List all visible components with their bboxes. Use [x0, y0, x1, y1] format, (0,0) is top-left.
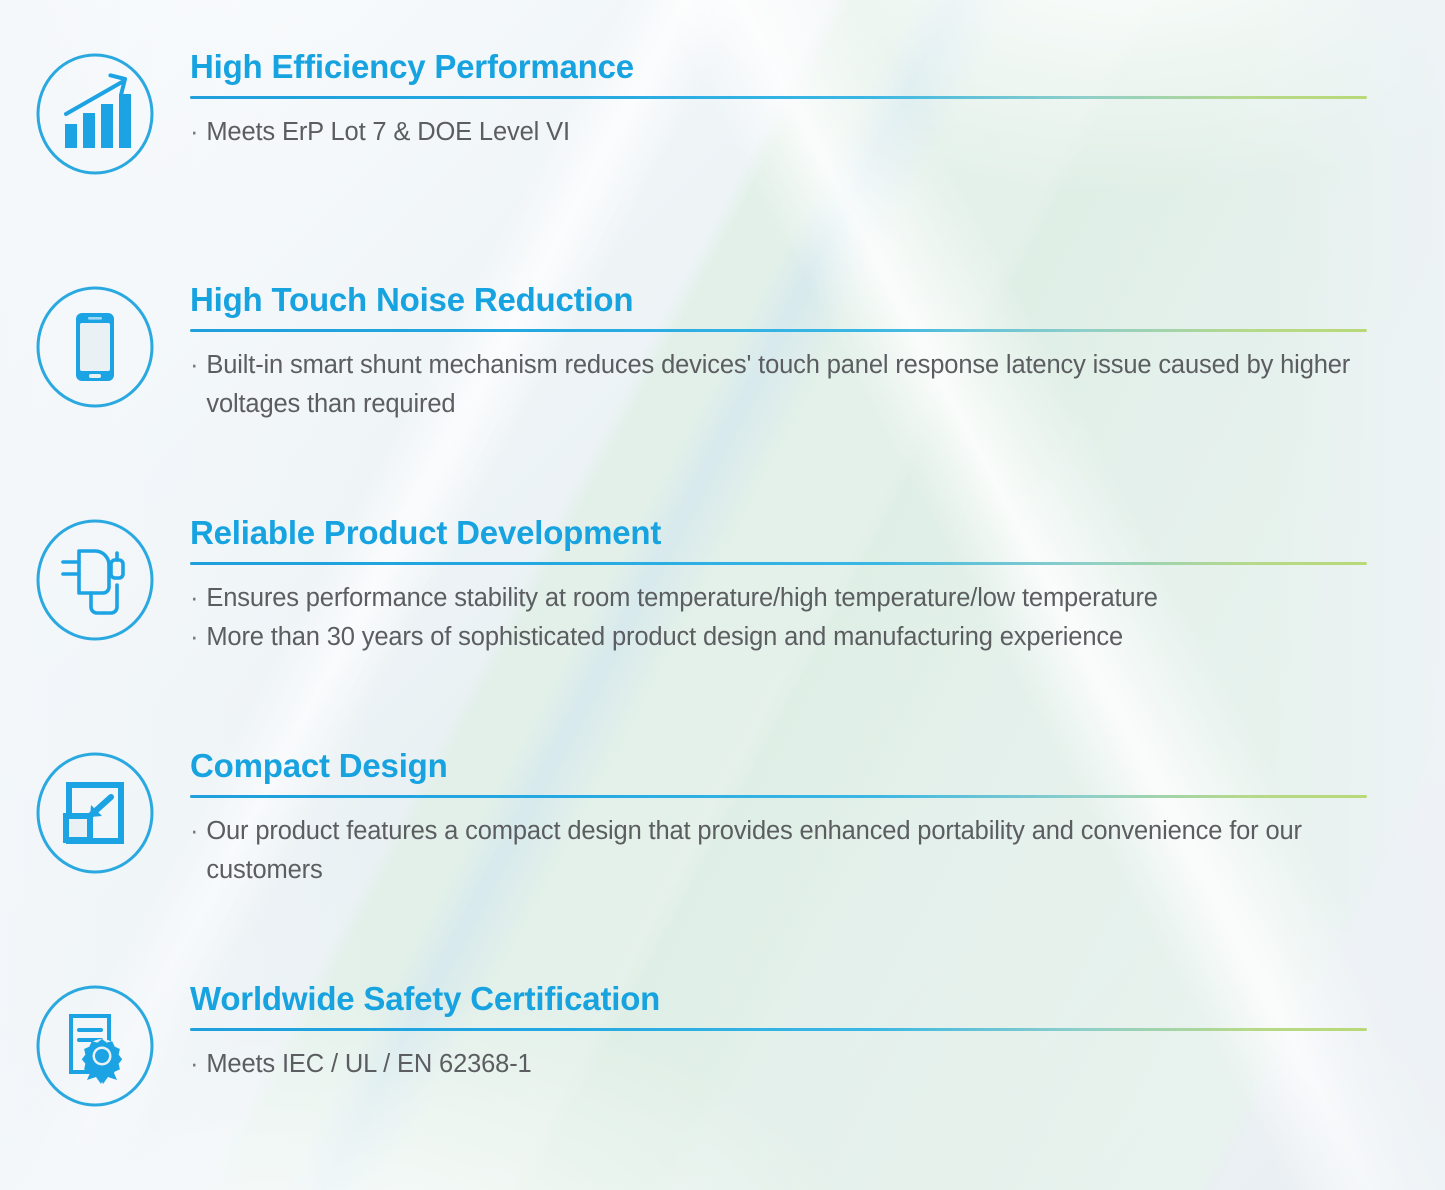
- feature-bullets: · Ensures performance stability at room …: [190, 579, 1367, 657]
- feature-bullets: · Built-in smart shunt mechanism reduces…: [190, 346, 1367, 424]
- feature-divider: [190, 562, 1367, 565]
- feature-body: High Touch Noise Reduction · Built-in sm…: [190, 281, 1445, 423]
- feature-item-reliable-product-development: Reliable Product Development · Ensures p…: [0, 514, 1445, 656]
- bullet-marker: ·: [190, 1045, 198, 1084]
- feature-bullets: · Meets IEC / UL / EN 62368-1: [190, 1045, 1367, 1084]
- feature-body: Reliable Product Development · Ensures p…: [190, 514, 1445, 656]
- feature-title: High Efficiency Performance: [190, 48, 1367, 86]
- list-item: · Our product features a compact design …: [190, 812, 1367, 890]
- bullet-text: More than 30 years of sophisticated prod…: [206, 618, 1367, 657]
- feature-bullets: · Our product features a compact design …: [190, 812, 1367, 890]
- list-item: · Meets IEC / UL / EN 62368-1: [190, 1045, 1367, 1084]
- feature-item-high-efficiency-performance: High Efficiency Performance · Meets ErP …: [0, 48, 1445, 176]
- feature-icon-slot: [0, 747, 190, 875]
- power-adapter-icon: [33, 518, 157, 642]
- feature-divider: [190, 96, 1367, 99]
- feature-bullets: · Meets ErP Lot 7 & DOE Level VI: [190, 113, 1367, 152]
- feature-divider: [190, 1028, 1367, 1031]
- bullet-marker: ·: [190, 113, 198, 152]
- bar-chart-growth-icon: [33, 52, 157, 176]
- feature-item-high-touch-noise-reduction: High Touch Noise Reduction · Built-in sm…: [0, 281, 1445, 423]
- list-item: · Ensures performance stability at room …: [190, 579, 1367, 618]
- bullet-marker: ·: [190, 812, 198, 851]
- feature-highlights-page: High Efficiency Performance · Meets ErP …: [0, 0, 1445, 1190]
- feature-body: Worldwide Safety Certification · Meets I…: [190, 980, 1445, 1084]
- compact-resize-icon: [33, 751, 157, 875]
- feature-icon-slot: [0, 514, 190, 642]
- feature-title: Reliable Product Development: [190, 514, 1367, 552]
- list-item: · Meets ErP Lot 7 & DOE Level VI: [190, 113, 1367, 152]
- bullet-text: Our product features a compact design th…: [206, 812, 1367, 890]
- feature-body: High Efficiency Performance · Meets ErP …: [190, 48, 1445, 152]
- feature-icon-slot: [0, 281, 190, 409]
- list-item: · More than 30 years of sophisticated pr…: [190, 618, 1367, 657]
- feature-title: Worldwide Safety Certification: [190, 980, 1367, 1018]
- feature-item-worldwide-safety-certification: Worldwide Safety Certification · Meets I…: [0, 980, 1445, 1108]
- feature-icon-slot: [0, 48, 190, 176]
- feature-body: Compact Design · Our product features a …: [190, 747, 1445, 889]
- certificate-award-icon: [33, 984, 157, 1108]
- bullet-marker: ·: [190, 579, 198, 618]
- feature-divider: [190, 795, 1367, 798]
- feature-title: High Touch Noise Reduction: [190, 281, 1367, 319]
- bullet-text: Meets IEC / UL / EN 62368-1: [206, 1045, 1367, 1084]
- bullet-marker: ·: [190, 346, 198, 385]
- bullet-text: Meets ErP Lot 7 & DOE Level VI: [206, 113, 1367, 152]
- bullet-text: Built-in smart shunt mechanism reduces d…: [206, 346, 1367, 424]
- list-item: · Built-in smart shunt mechanism reduces…: [190, 346, 1367, 424]
- smartphone-icon: [33, 285, 157, 409]
- feature-icon-slot: [0, 980, 190, 1108]
- bullet-text: Ensures performance stability at room te…: [206, 579, 1367, 618]
- feature-divider: [190, 329, 1367, 332]
- feature-title: Compact Design: [190, 747, 1367, 785]
- feature-item-compact-design: Compact Design · Our product features a …: [0, 747, 1445, 889]
- bullet-marker: ·: [190, 618, 198, 657]
